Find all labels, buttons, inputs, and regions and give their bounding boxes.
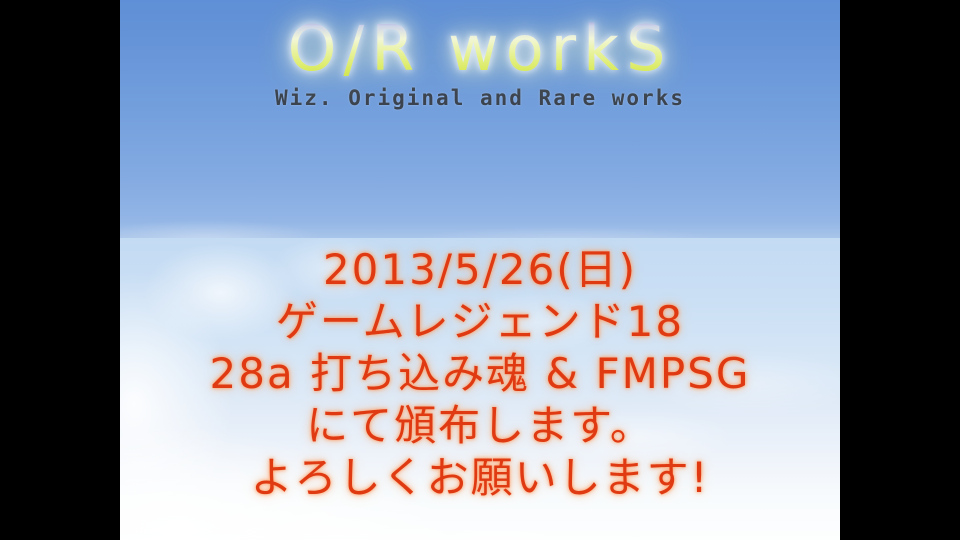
video-player-stage: O/R workS Wiz. Original and Rare works 2… xyxy=(0,0,960,540)
pillarbox-left xyxy=(0,0,120,540)
sky-upper-band xyxy=(120,0,840,238)
pillarbox-right xyxy=(840,0,960,540)
sky-lower-cloud-band xyxy=(120,238,840,540)
video-content-frame: O/R workS Wiz. Original and Rare works 2… xyxy=(120,0,840,540)
